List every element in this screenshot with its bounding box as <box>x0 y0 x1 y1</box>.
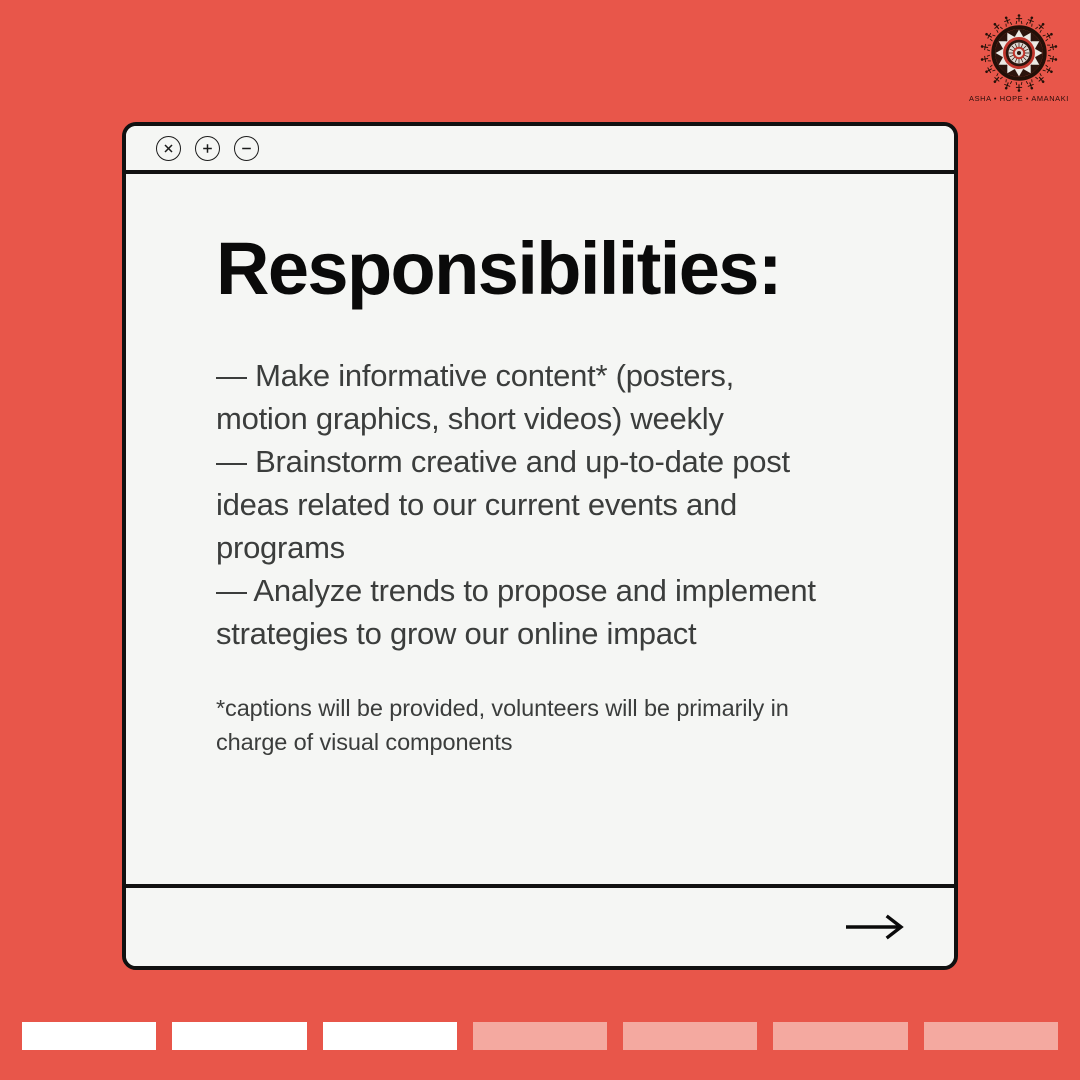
progress-segment[interactable] <box>323 1022 457 1050</box>
progress-segment[interactable] <box>172 1022 306 1050</box>
brand-tagline: ASHA • HOPE • AMANAKI <box>969 94 1069 103</box>
progress-segment[interactable] <box>473 1022 607 1050</box>
minus-icon <box>240 142 253 155</box>
list-item: — Brainstorm creative and up-to-date pos… <box>216 440 816 569</box>
window-card: Responsibilities: — Make informative con… <box>122 122 958 970</box>
progress-segment[interactable] <box>22 1022 156 1050</box>
footnote-text: *captions will be provided, volunteers w… <box>216 691 796 759</box>
list-item: — Analyze trends to propose and implemen… <box>216 569 816 655</box>
card-content: Responsibilities: — Make informative con… <box>126 174 954 884</box>
brand-logo: ASHA • HOPE • AMANAKI <box>972 14 1066 110</box>
maximize-button[interactable] <box>195 136 220 161</box>
close-button[interactable] <box>156 136 181 161</box>
window-title-bar <box>126 126 954 174</box>
mandala-logo-icon <box>978 14 1060 92</box>
card-footer <box>126 884 954 966</box>
close-icon <box>162 142 175 155</box>
minimize-button[interactable] <box>234 136 259 161</box>
next-arrow-icon[interactable] <box>844 914 906 940</box>
progress-segment[interactable] <box>623 1022 757 1050</box>
progress-segment[interactable] <box>924 1022 1058 1050</box>
progress-segment[interactable] <box>773 1022 907 1050</box>
page-title: Responsibilities: <box>216 230 898 308</box>
list-item: — Make informative content* (posters, mo… <box>216 354 816 440</box>
responsibilities-list: — Make informative content* (posters, mo… <box>216 354 816 655</box>
progress-indicator <box>22 1022 1058 1050</box>
plus-icon <box>201 142 214 155</box>
